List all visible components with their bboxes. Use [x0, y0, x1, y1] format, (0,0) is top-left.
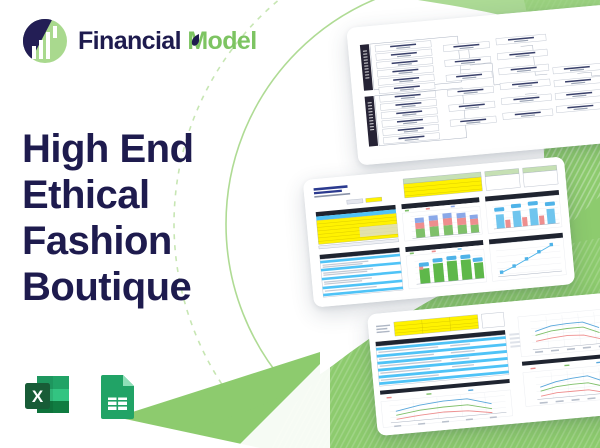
page-title-line-4: Boutique	[22, 264, 194, 310]
brand-name-part-1: Financial	[78, 27, 181, 55]
dupont-analysis-flowchart	[346, 4, 600, 165]
page-title: High End Ethical Fashion Boutique	[22, 126, 194, 310]
brand-logo: Financial Model	[22, 18, 257, 64]
income-statement-table	[320, 248, 404, 298]
preview-card-statements-and-trends[interactable]	[367, 292, 600, 436]
cash-flow-chart	[405, 240, 486, 289]
profitability-chart	[485, 190, 562, 234]
poster-canvas: Financial Model High End Ethical Fashion…	[0, 0, 600, 448]
page-title-line-3: Fashion	[22, 218, 194, 264]
page-title-line-1: High End	[22, 126, 194, 172]
cumulative-chart	[489, 233, 567, 282]
google-sheets-icon[interactable]	[92, 371, 142, 421]
statements-and-trends	[367, 292, 600, 436]
excel-icon[interactable]: X	[22, 371, 72, 421]
svg-text:X: X	[32, 387, 44, 406]
preview-card-financial-dashboard[interactable]	[303, 156, 576, 307]
financial-dashboard	[303, 156, 576, 307]
file-format-icons: X	[22, 371, 142, 421]
margin-trend-chart-2	[517, 302, 600, 356]
leaf-accent-icon	[191, 34, 200, 47]
brand-name: Financial Model	[78, 27, 257, 56]
preview-card-dupont-analysis[interactable]	[346, 4, 600, 165]
page-title-line-2: Ethical	[22, 172, 194, 218]
financial-model-circle-logo	[22, 18, 68, 64]
revenue-breakdown-chart	[401, 197, 482, 241]
cost-inputs-table	[316, 205, 399, 249]
